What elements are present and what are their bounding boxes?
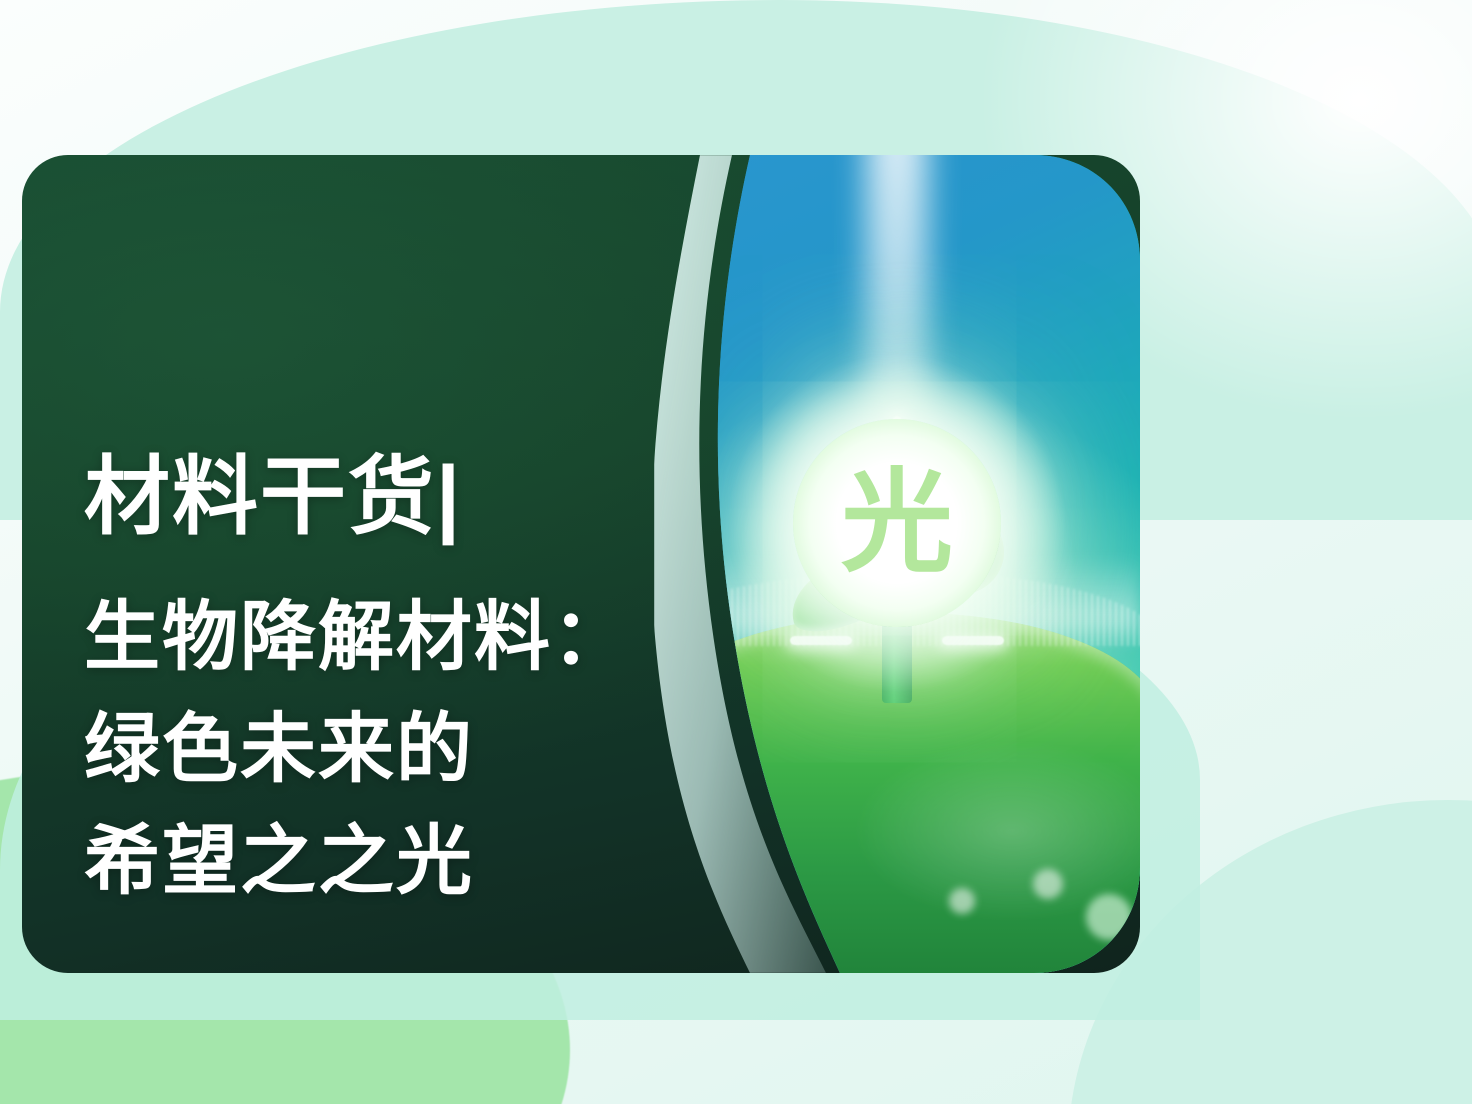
headline-kicker: 材料干货| bbox=[84, 443, 630, 551]
orb-character-label: 光 bbox=[841, 467, 953, 579]
headline-line-3: 绿色未来的 bbox=[84, 701, 630, 799]
headline-block: 材料干货| 生物降解材料： 绿色未来的 希望之之光 bbox=[84, 443, 630, 911]
light-dash-left-icon bbox=[790, 636, 852, 645]
photo-panel: 光 bbox=[654, 155, 1140, 973]
headline-line-2: 生物降解材料： bbox=[84, 589, 630, 687]
dew-drop bbox=[949, 888, 975, 914]
headline-line-4: 希望之之光 bbox=[84, 813, 630, 911]
hero-card: 光 材料干货| 生物降解材料： 绿色未来的 希望之之光 bbox=[22, 155, 1140, 973]
dew-drop bbox=[1086, 894, 1132, 940]
glowing-orb: 光 bbox=[793, 419, 1001, 627]
light-dash-right-icon bbox=[942, 636, 1004, 645]
glowing-orb-group: 光 bbox=[662, 288, 1132, 758]
dew-drop bbox=[1033, 869, 1063, 899]
